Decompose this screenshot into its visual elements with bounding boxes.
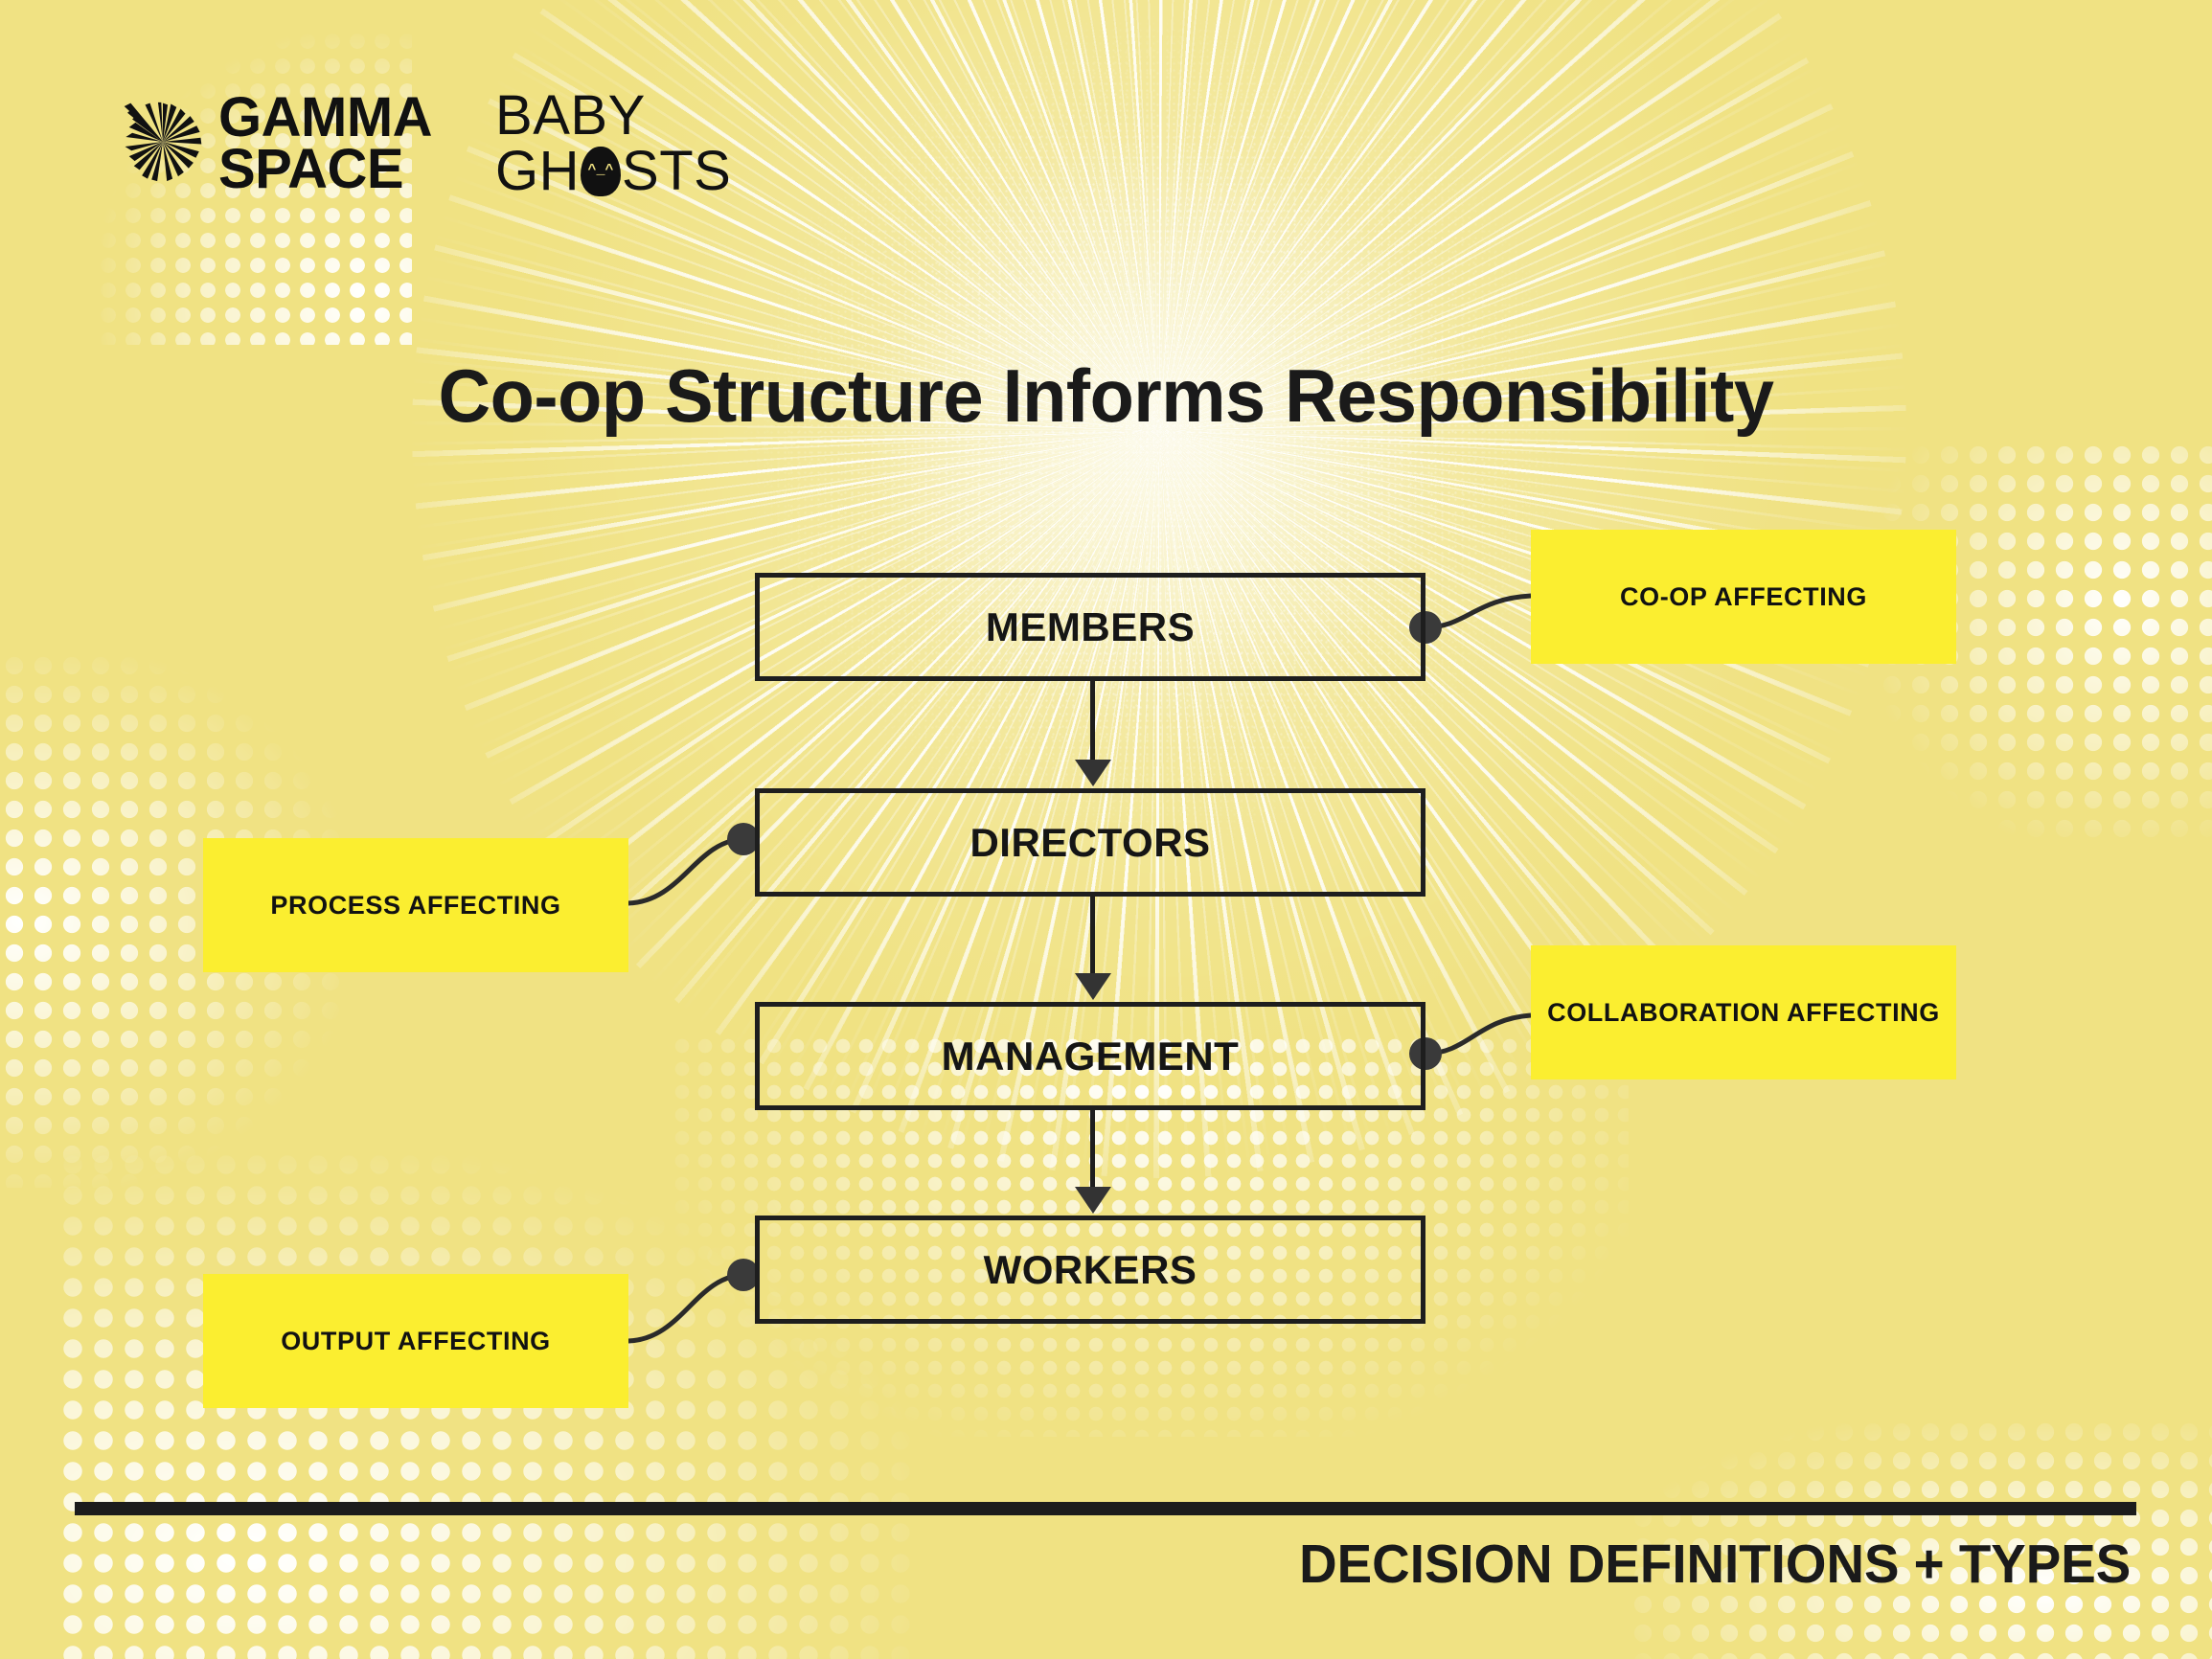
callout-co-op-affecting[interactable]: CO-OP AFFECTING <box>1531 530 1956 664</box>
callout-collaboration-affecting[interactable]: COLLABORATION AFFECTING <box>1531 945 1956 1079</box>
slide-canvas: GAMMA SPACE BABY GH ^_^ STS Co-op Struct… <box>0 0 2212 1659</box>
flow-node-members[interactable]: MEMBERS <box>755 573 1425 681</box>
footer-label: DECISION DEFINITIONS + TYPES <box>1299 1533 2131 1596</box>
flow-diagram: MEMBERS DIRECTORS MANAGEMENT WORKERS <box>0 0 2212 1659</box>
flow-node-directors[interactable]: DIRECTORS <box>755 788 1425 897</box>
arrow-management-to-workers <box>1090 1110 1095 1189</box>
callout-process-affecting[interactable]: PROCESS AFFECTING <box>203 838 628 972</box>
flow-node-workers[interactable]: WORKERS <box>755 1216 1425 1324</box>
footer-divider <box>75 1502 2136 1515</box>
flow-node-management[interactable]: MANAGEMENT <box>755 1002 1425 1110</box>
callout-output-affecting[interactable]: OUTPUT AFFECTING <box>203 1274 628 1408</box>
arrow-directors-to-management <box>1090 897 1095 975</box>
arrow-members-to-directors <box>1090 681 1095 761</box>
